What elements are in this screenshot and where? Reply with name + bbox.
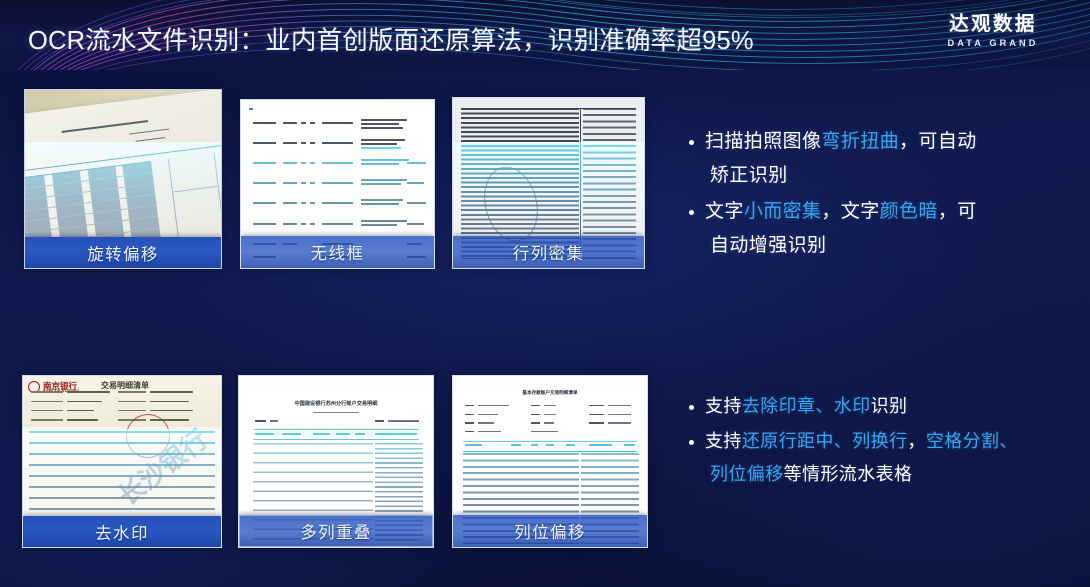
highlight-text: 弯折扭曲 <box>821 131 899 152</box>
card-caption-label: 去水印 <box>95 520 149 544</box>
page-title: OCR流水文件识别：业内首创版面还原算法，识别准确率超95% <box>28 20 754 57</box>
card-caption-label: 无线框 <box>311 240 365 264</box>
card-caption-label: 旋转偏移 <box>87 241 159 265</box>
card-caption-label: 列位偏移 <box>514 519 586 543</box>
bullet-text-line: 支持去除印章、水印识别 <box>705 396 907 416</box>
bullet-group-top: 扫描拍照图像弯折扭曲，可自动矫正识别文字小而密集，文字颜色暗，可自动增强识别 <box>688 125 1068 265</box>
plain-text: ，可自动 <box>899 131 977 152</box>
plain-text: 识别 <box>871 396 908 416</box>
highlight-text: 颜色暗 <box>880 201 938 222</box>
bullet-text-line: 矫正识别 <box>705 159 1068 193</box>
bullet-text-line: 扫描拍照图像弯折扭曲，可自动 <box>705 131 977 152</box>
bullet-item: 支持去除印章、水印识别 <box>688 390 1078 423</box>
bullet-text-line: 支持还原行距中、列换行，空格分割、 <box>705 431 1018 451</box>
bullet-text-line: 自动增强识别 <box>705 229 1068 263</box>
thumbnail-card-borderless[interactable]: 无线框 <box>240 99 435 269</box>
plain-text: 支持 <box>705 431 742 451</box>
statement-title: 基本存款账户交易明细清单 <box>522 390 577 396</box>
thumbnail-card-watermark[interactable]: 南京银行 BANK OF NANJING 交易明细清单 <box>22 375 222 548</box>
plain-text: 等情形流水表格 <box>784 464 913 484</box>
plain-text: ，文字 <box>821 201 879 222</box>
plain-text: 文字 <box>705 201 744 222</box>
statement-title: 交易明细清单 <box>101 380 149 391</box>
bullet-item: 文字小而密集，文字颜色暗，可自动增强识别 <box>688 195 1068 263</box>
card-caption-label: 行列密集 <box>513 240 585 264</box>
bullet-item: 扫描拍照图像弯折扭曲，可自动矫正识别 <box>688 125 1068 193</box>
highlight-text: 还原行距中、列换行 <box>742 431 908 451</box>
slide-header: OCR流水文件识别：业内首创版面还原算法，识别准确率超95% 达观数据 DATA… <box>0 0 1090 70</box>
plain-text: ， <box>907 431 925 451</box>
highlight-text: 列位偏移 <box>710 464 784 484</box>
statement-header: 南京银行 BANK OF NANJING 交易明细清单 <box>23 376 221 427</box>
card-caption: 行列密集 <box>453 236 644 268</box>
card-caption: 列位偏移 <box>453 515 647 547</box>
brand-logo-cn: 达观数据 <box>918 14 1068 34</box>
plain-text: 自动增强识别 <box>710 235 826 256</box>
plain-text: ，可 <box>938 201 977 222</box>
card-caption-label: 多列重叠 <box>300 519 372 543</box>
plain-text: 支持 <box>705 396 742 416</box>
card-caption: 无线框 <box>241 236 434 268</box>
highlight-text: 小而密集 <box>744 201 822 222</box>
thumbnail-card-shifted[interactable]: 基本存款账户交易明细清单 <box>452 375 648 548</box>
thumbnail-card-dense[interactable]: 行列密集 <box>452 97 645 269</box>
statement-title: 中国建设银行苏州分行账户交易明细 <box>294 400 377 407</box>
card-caption: 旋转偏移 <box>25 237 221 268</box>
slide-canvas: OCR流水文件识别：业内首创版面还原算法，识别准确率超95% 达观数据 DATA… <box>0 0 1090 587</box>
bullet-item: 支持还原行距中、列换行，空格分割、列位偏移等情形流水表格 <box>688 425 1078 491</box>
thumbnail-card-rotated[interactable]: 旋转偏移 <box>24 89 222 269</box>
bullet-text-line: 文字小而密集，文字颜色暗，可 <box>705 201 977 222</box>
plain-text: 矫正识别 <box>710 165 788 186</box>
highlight-text: 去除印章、水印 <box>742 396 871 416</box>
bullet-group-bottom: 支持去除印章、水印识别支持还原行距中、列换行，空格分割、列位偏移等情形流水表格 <box>688 390 1078 493</box>
brand-logo-en: DATA GRAND <box>918 38 1068 48</box>
thumbnail-card-overlap[interactable]: 中国建设银行苏州分行账户交易明细 多列重叠 <box>238 375 434 548</box>
highlight-text: 空格分割、 <box>926 431 1018 451</box>
plain-text: 扫描拍照图像 <box>705 131 821 152</box>
bullet-text-line: 列位偏移等情形流水表格 <box>705 458 1078 491</box>
card-caption: 多列重叠 <box>239 515 433 547</box>
brand-logo: 达观数据 DATA GRAND <box>918 14 1068 48</box>
card-caption: 去水印 <box>23 516 221 547</box>
